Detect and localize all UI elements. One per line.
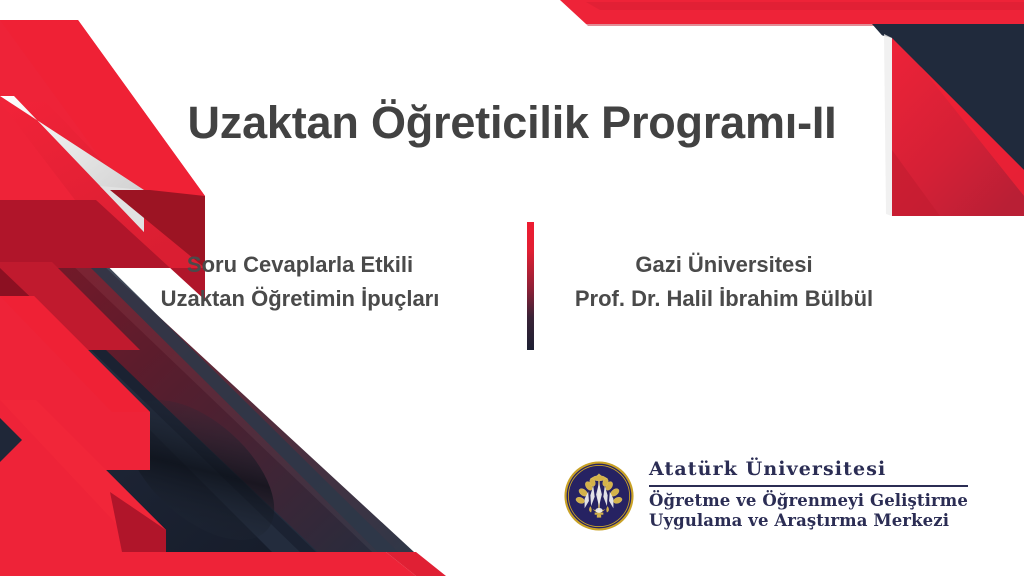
logo-text-block: Atatürk Üniversitesi Öğretme ve Öğrenmey…: [649, 459, 968, 532]
decor-shadow-smudge: [101, 374, 299, 566]
decor-left-navy-notch: [0, 418, 22, 462]
logo-institution-name: Atatürk Üniversitesi: [649, 459, 968, 481]
title-block: Uzaktan Öğreticilik Programı-II: [0, 98, 1024, 148]
presentation-slide: Uzaktan Öğreticilik Programı-II Soru Cev…: [0, 0, 1024, 576]
decor-top-red-ribbon: [560, 0, 1024, 26]
subtitle-right-column: Gazi Üniversitesi Prof. Dr. Halil İbrahi…: [512, 248, 924, 316]
decor-bottom-red-bar: [0, 552, 446, 576]
logo-divider-rule: [649, 485, 968, 487]
subtitle-right-line1: Gazi Üniversitesi: [524, 248, 924, 282]
decor-left-red-chevron-mid: [0, 296, 150, 470]
page-title: Uzaktan Öğreticilik Programı-II: [0, 98, 1024, 148]
subtitle-left-column: Soru Cevaplarla Etkili Uzaktan Öğretimin…: [100, 248, 512, 316]
institution-logo-lockup: Atatürk Üniversitesi Öğretme ve Öğrenmey…: [563, 459, 968, 532]
subtitle-right-line2: Prof. Dr. Halil İbrahim Bülbül: [524, 282, 924, 316]
subtitle-left-line1: Soru Cevaplarla Etkili: [100, 248, 500, 282]
logo-center-name-line2: Uygulama ve Araştırma Merkezi: [649, 511, 968, 532]
ataturk-university-seal-icon: [563, 460, 635, 532]
subtitle-row: Soru Cevaplarla Etkili Uzaktan Öğretimin…: [0, 248, 1024, 316]
decor-left-diagonal-band: [0, 160, 414, 552]
logo-center-name-line1: Öğretme ve Öğrenmeyi Geliştirme: [649, 491, 968, 512]
subtitle-left-line2: Uzaktan Öğretimin İpuçları: [100, 282, 500, 316]
decor-left-red-parallelogram-lower: [0, 400, 166, 552]
